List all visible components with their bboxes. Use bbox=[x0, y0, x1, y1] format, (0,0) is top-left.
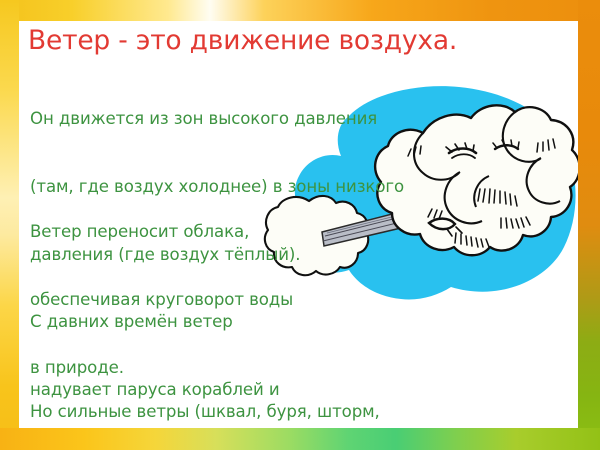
slide-canvas: Ветер - это движение воздуха. Он движетс… bbox=[0, 0, 600, 450]
slide-border-bottom bbox=[0, 428, 600, 450]
slide-border-top bbox=[0, 0, 600, 21]
paragraph-4: Но сильные ветры (шквал, буря, шторм, ур… bbox=[30, 356, 405, 428]
paragraph-4-line-1: Но сильные ветры (шквал, буря, шторм, bbox=[30, 401, 405, 424]
slide-content-panel: Ветер - это движение воздуха. Он движетс… bbox=[19, 21, 578, 428]
page-title: Ветер - это движение воздуха. bbox=[28, 25, 457, 56]
paragraph-3-line-1: С давних времён ветер bbox=[30, 311, 333, 334]
paragraph-1-line-1: Он движется из зон высокого давления bbox=[30, 108, 404, 131]
slide-border-left bbox=[0, 0, 19, 450]
paragraph-2-line-1: Ветер переносит облака, bbox=[30, 221, 293, 244]
slide-border-right bbox=[578, 0, 600, 450]
slide-text-layer: Ветер - это движение воздуха. Он движетс… bbox=[19, 21, 578, 428]
